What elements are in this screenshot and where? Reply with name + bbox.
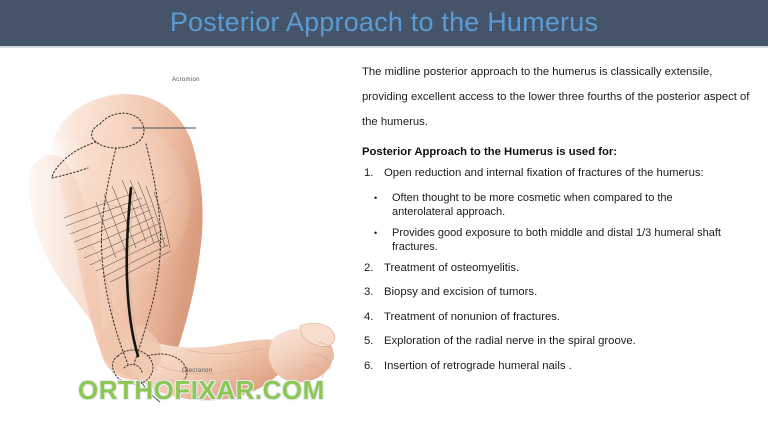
list-item: 6. Insertion of retrograde humeral nails…	[362, 359, 760, 375]
list-item-number: 6.	[362, 359, 384, 375]
list-item: 4. Treatment of nonunion of fractures.	[362, 310, 760, 326]
list-item: 1. Open reduction and internal fixation …	[362, 166, 760, 182]
list-item: 2. Treatment of osteomyelitis.	[362, 261, 760, 277]
header-underline	[0, 46, 768, 48]
list-item-text: Insertion of retrograde humeral nails .	[384, 359, 736, 375]
content-panel: The midline posterior approach to the hu…	[362, 60, 760, 383]
list-item-text: Biopsy and excision of tumors.	[384, 285, 736, 301]
label-acromion: Acromion	[172, 77, 200, 83]
list-item-number: 4.	[362, 310, 384, 326]
list-item-text: Open reduction and internal fixation of …	[384, 166, 736, 182]
list-item-number: 5.	[362, 334, 384, 350]
list-item: 5. Exploration of the radial nerve in th…	[362, 334, 760, 350]
usage-list: 1. Open reduction and internal fixation …	[362, 166, 760, 374]
bullet-icon: •	[362, 191, 392, 206]
slide-root: Posterior Approach to the Humerus	[0, 0, 768, 432]
sub-list: • Often thought to be more cosmetic when…	[362, 191, 760, 255]
sub-list-item-text: Provides good exposure to both middle an…	[392, 226, 722, 255]
sub-list-item-text: Often thought to be more cosmetic when c…	[392, 191, 722, 220]
watermark-orthofixar: ORTHOFIXAR.COM	[78, 375, 325, 406]
label-olecranon: Olecranon	[182, 368, 212, 374]
page-title: Posterior Approach to the Humerus	[0, 0, 768, 46]
list-item-number: 2.	[362, 261, 384, 277]
intro-paragraph: The midline posterior approach to the hu…	[362, 60, 752, 135]
list-item-text: Exploration of the radial nerve in the s…	[384, 334, 736, 350]
usage-subheading: Posterior Approach to the Humerus is use…	[362, 143, 760, 162]
sub-list-item: • Often thought to be more cosmetic when…	[362, 191, 760, 220]
list-item-number: 1.	[362, 166, 384, 182]
list-item-text: Treatment of osteomyelitis.	[384, 261, 736, 277]
sub-list-item: • Provides good exposure to both middle …	[362, 226, 760, 255]
list-item: 3. Biopsy and excision of tumors.	[362, 285, 760, 301]
list-item-text: Treatment of nonunion of fractures.	[384, 310, 736, 326]
bullet-icon: •	[362, 226, 392, 241]
list-item-number: 3.	[362, 285, 384, 301]
